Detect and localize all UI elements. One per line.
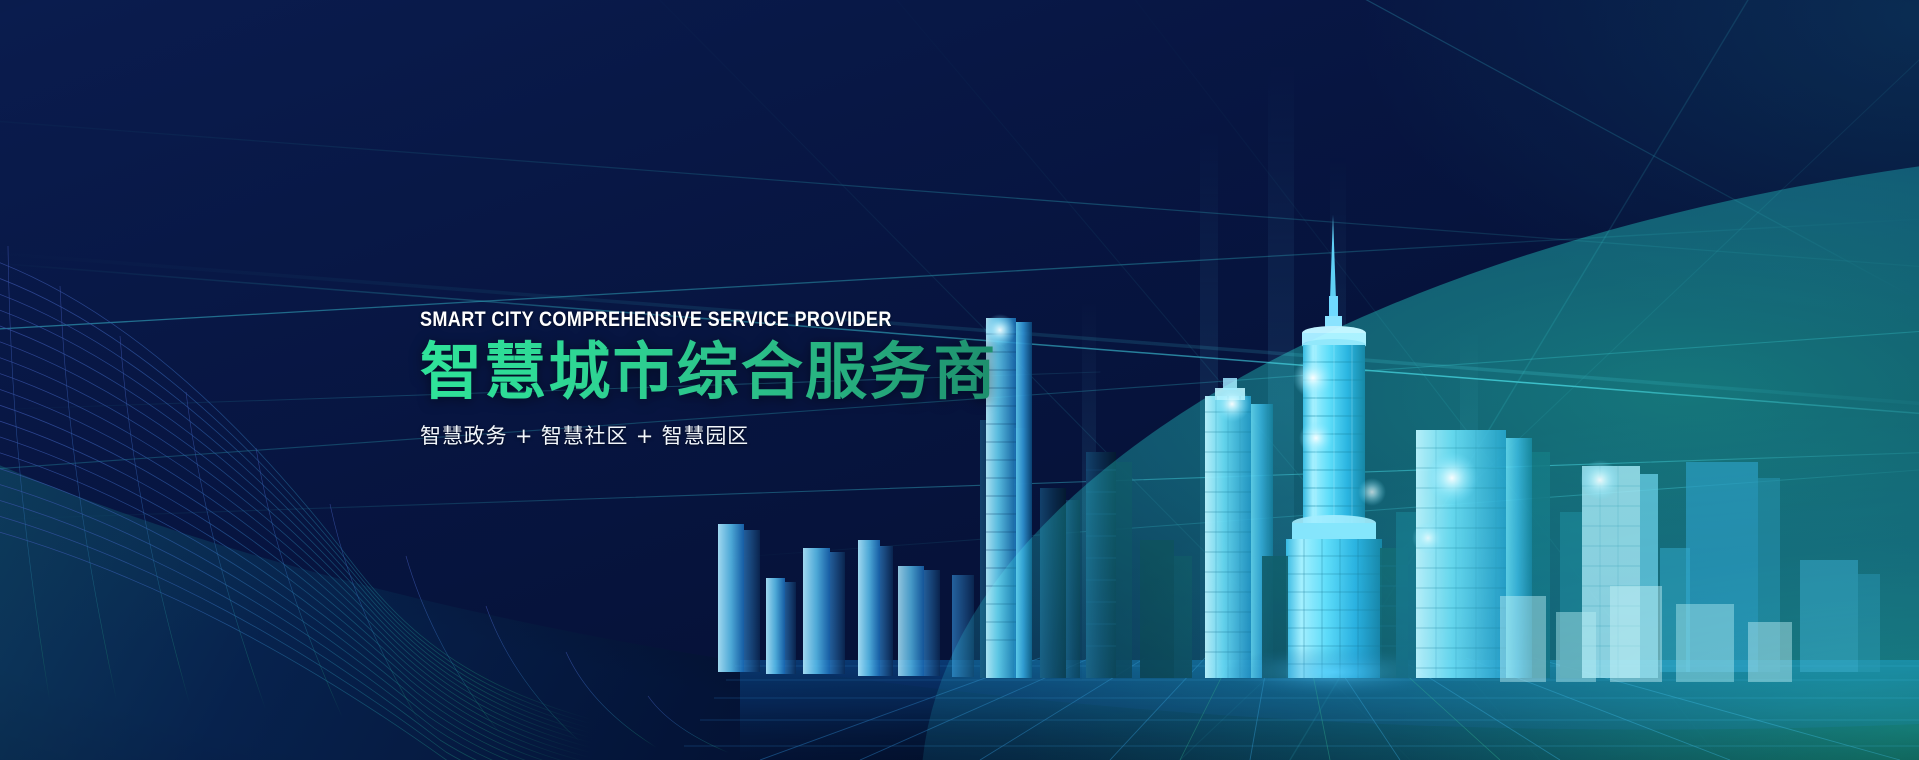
- hero-copy: SMART CITY COMPREHENSIVE SERVICE PROVIDE…: [420, 308, 1140, 450]
- subtitle-text: 智慧政务 + 智慧社区 + 智慧园区: [420, 420, 1140, 450]
- eyebrow-text: SMART CITY COMPREHENSIVE SERVICE PROVIDE…: [420, 308, 1039, 331]
- page-title: 智慧城市综合服务商: [420, 339, 1140, 404]
- hero-banner: SMART CITY COMPREHENSIVE SERVICE PROVIDE…: [0, 0, 1919, 760]
